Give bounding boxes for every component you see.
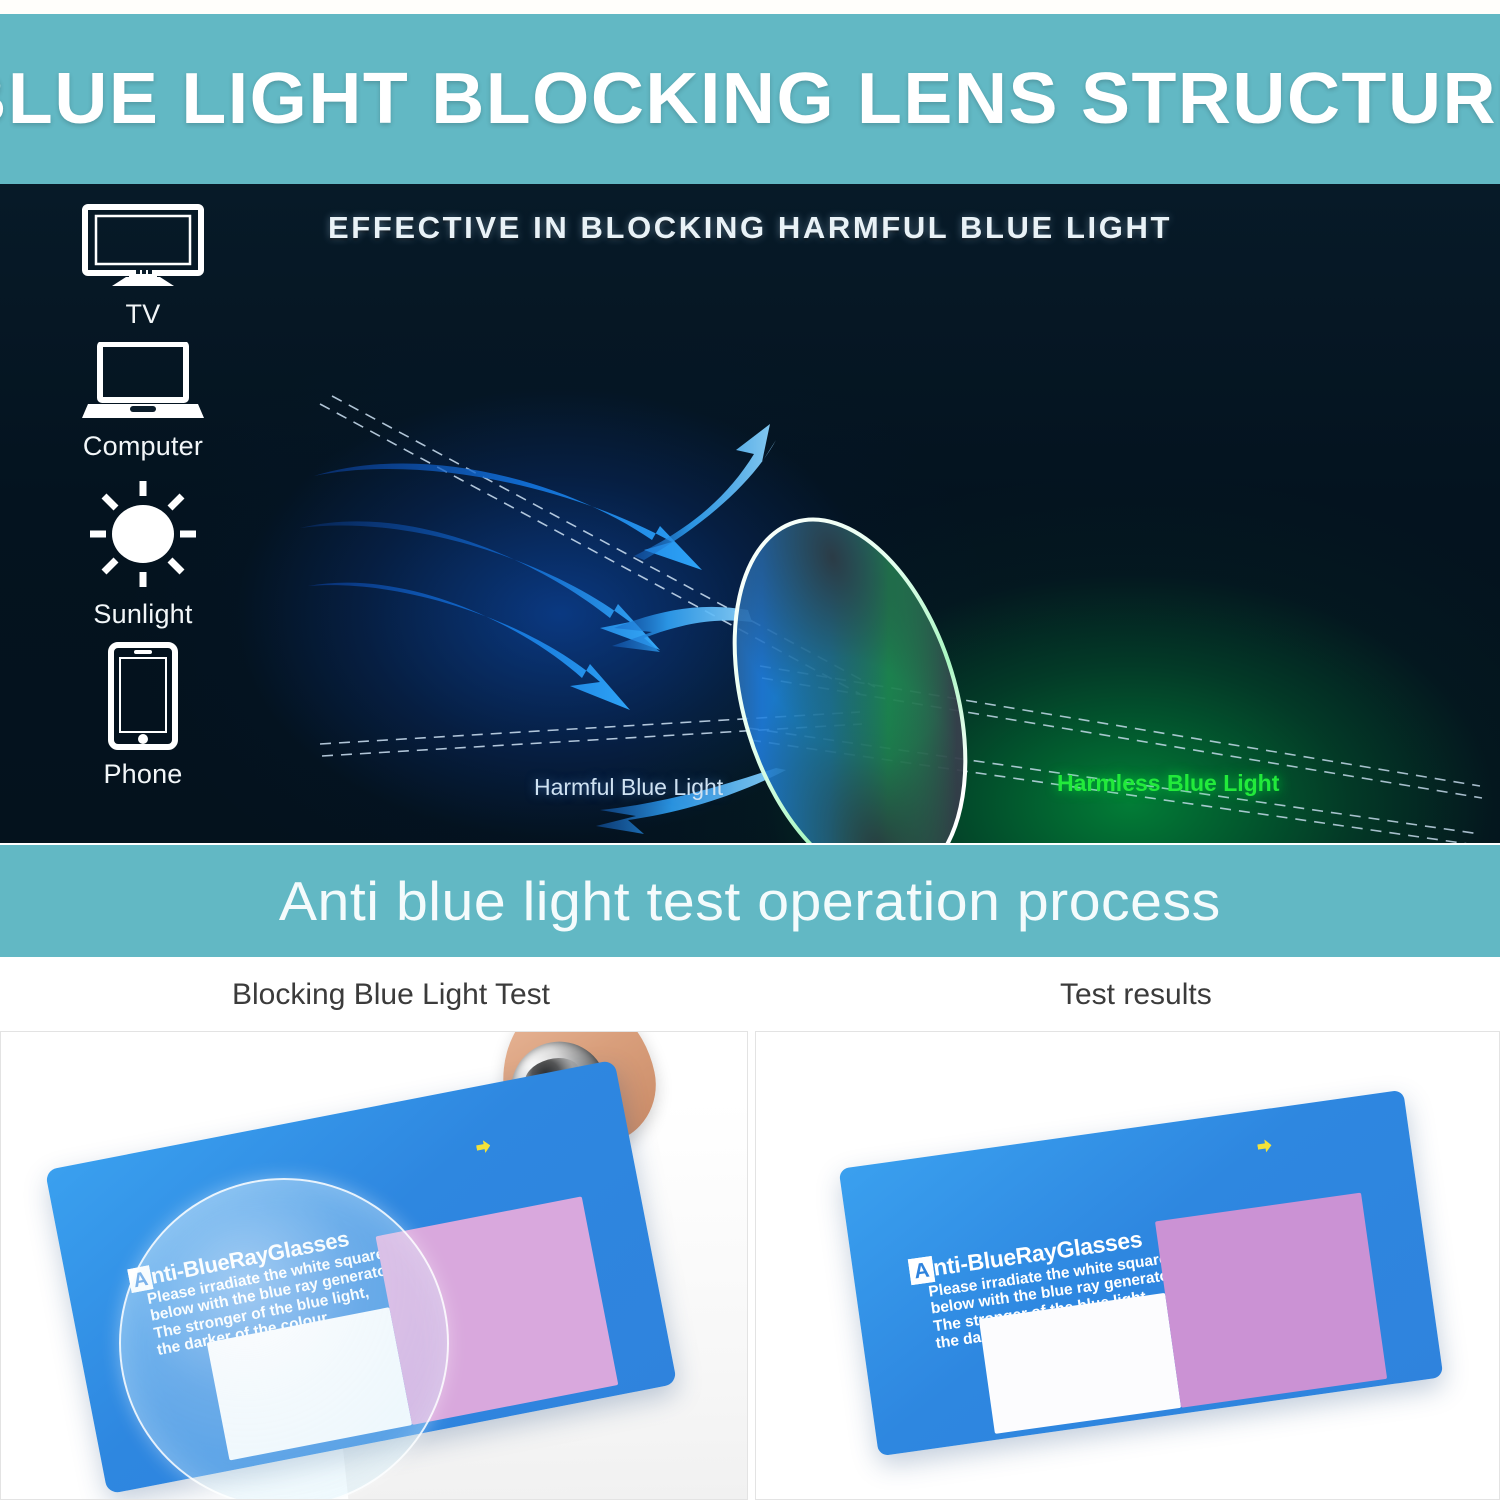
device-label: Computer bbox=[83, 433, 203, 460]
device-label: Sunlight bbox=[93, 601, 192, 628]
page-title: BLUE LIGHT BLOCKING LENS STRUCTURE bbox=[0, 63, 1500, 135]
test-card: Anti-BlueRayGlasses Please irradiate the… bbox=[839, 1090, 1444, 1457]
card-yellow-marker bbox=[475, 1139, 491, 1154]
photo-row: Anti-BlueRayGlasses Please irradiate the… bbox=[0, 1031, 1500, 1500]
sun-icon bbox=[84, 478, 202, 595]
test-results-photo: Anti-BlueRayGlasses Please irradiate the… bbox=[755, 1031, 1500, 1500]
infographic-page: BLUE LIGHT BLOCKING LENS STRUCTURE EFFEC… bbox=[0, 0, 1500, 1500]
smartphone-icon bbox=[107, 642, 179, 755]
blocking-blue-light-test-photo: Anti-BlueRayGlasses Please irradiate the… bbox=[0, 1031, 748, 1500]
card-brand-badge: A bbox=[908, 1256, 935, 1285]
lens-sample-disc bbox=[119, 1178, 449, 1500]
tv-icon bbox=[82, 204, 204, 295]
label-harmful-blue-light: Harmful Blue Light bbox=[534, 776, 723, 799]
device-item-phone: Phone bbox=[48, 642, 238, 788]
process-band: Anti blue light test operation process bbox=[0, 845, 1500, 957]
caption-test-results: Test results bbox=[1060, 980, 1212, 1010]
device-label: TV bbox=[126, 301, 161, 328]
hero-panel: EFFECTIVE IN BLOCKING HARMFUL BLUE LIGHT… bbox=[0, 184, 1500, 843]
laptop-icon bbox=[82, 342, 204, 427]
lens-illustration bbox=[700, 502, 1000, 843]
device-source-list: TV Computer bbox=[48, 204, 238, 802]
top-white-strip bbox=[0, 0, 1500, 14]
card-yellow-marker bbox=[1257, 1139, 1273, 1154]
card-white-window bbox=[979, 1293, 1181, 1434]
card-body: Anti-BlueRayGlasses Please irradiate the… bbox=[839, 1090, 1444, 1457]
device-item-tv: TV bbox=[48, 204, 238, 328]
title-band: BLUE LIGHT BLOCKING LENS STRUCTURE bbox=[0, 14, 1500, 184]
caption-blocking-test: Blocking Blue Light Test bbox=[232, 980, 550, 1010]
device-item-computer: Computer bbox=[48, 342, 238, 460]
device-label: Phone bbox=[103, 761, 182, 788]
process-title: Anti blue light test operation process bbox=[279, 874, 1221, 929]
device-item-sunlight: Sunlight bbox=[48, 478, 238, 628]
label-harmless-blue-light: Harmless Blue Light bbox=[1057, 772, 1279, 795]
card-pink-window bbox=[1155, 1193, 1387, 1408]
